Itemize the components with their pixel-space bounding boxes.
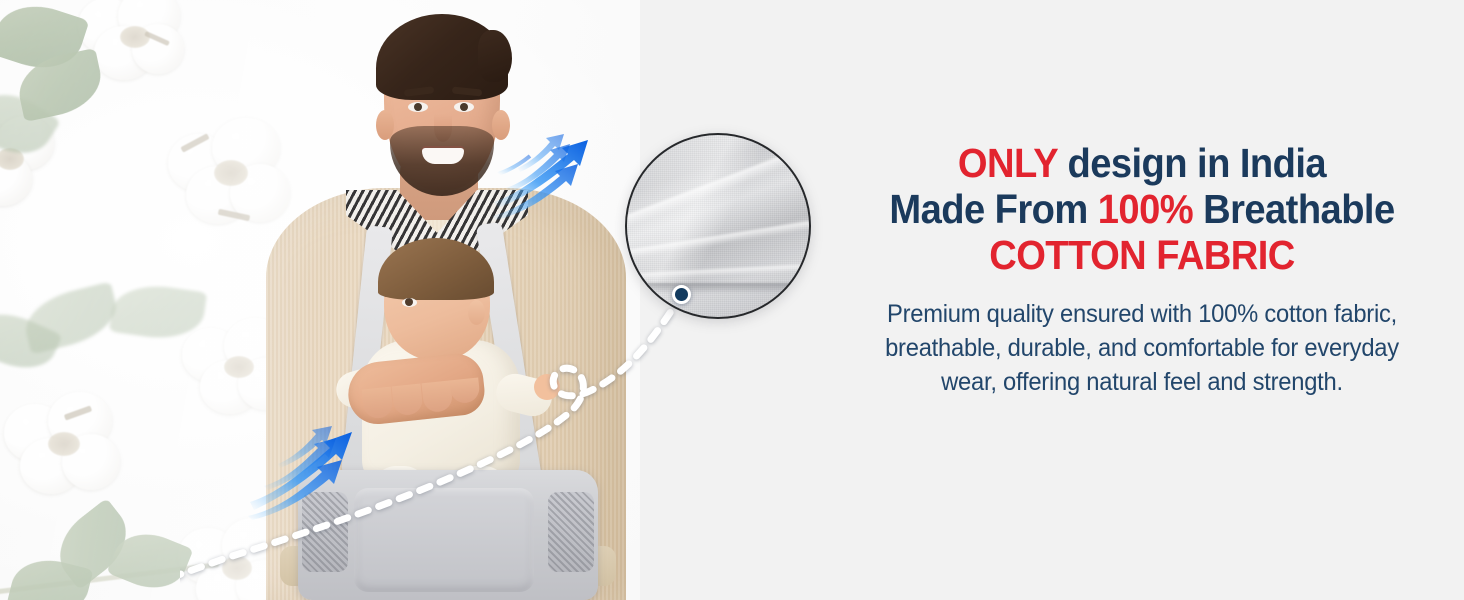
carrier-hip-seat — [298, 470, 598, 600]
headline-line-2: Made From 100% Breathable — [867, 186, 1418, 232]
body-description: Premium quality ensured with 100% cotton… — [861, 297, 1423, 399]
headline-cotton-fabric: COTTON FABRIC — [867, 232, 1418, 278]
cotton-boll-icon — [4, 388, 128, 502]
marketing-copy-block: ONLY design in India Made From 100% Brea… — [846, 140, 1438, 399]
headline-made-from: Made From — [889, 186, 1087, 232]
fabric-magnifier-circle — [625, 133, 811, 319]
headline-design-in-india: design in India — [1067, 140, 1326, 186]
father-and-baby-photo — [250, 0, 650, 600]
fabric-sample-pin-icon — [672, 285, 691, 304]
headline-percent: 100% — [1098, 186, 1193, 232]
headline: ONLY design in India Made From 100% Brea… — [867, 140, 1418, 278]
headline-breathable: Breathable — [1203, 186, 1395, 232]
headline-line-1: ONLY design in India — [867, 140, 1418, 186]
product-feature-banner: ONLY design in India Made From 100% Brea… — [0, 0, 1464, 600]
father-head — [370, 14, 514, 200]
headline-only: ONLY — [958, 140, 1058, 186]
